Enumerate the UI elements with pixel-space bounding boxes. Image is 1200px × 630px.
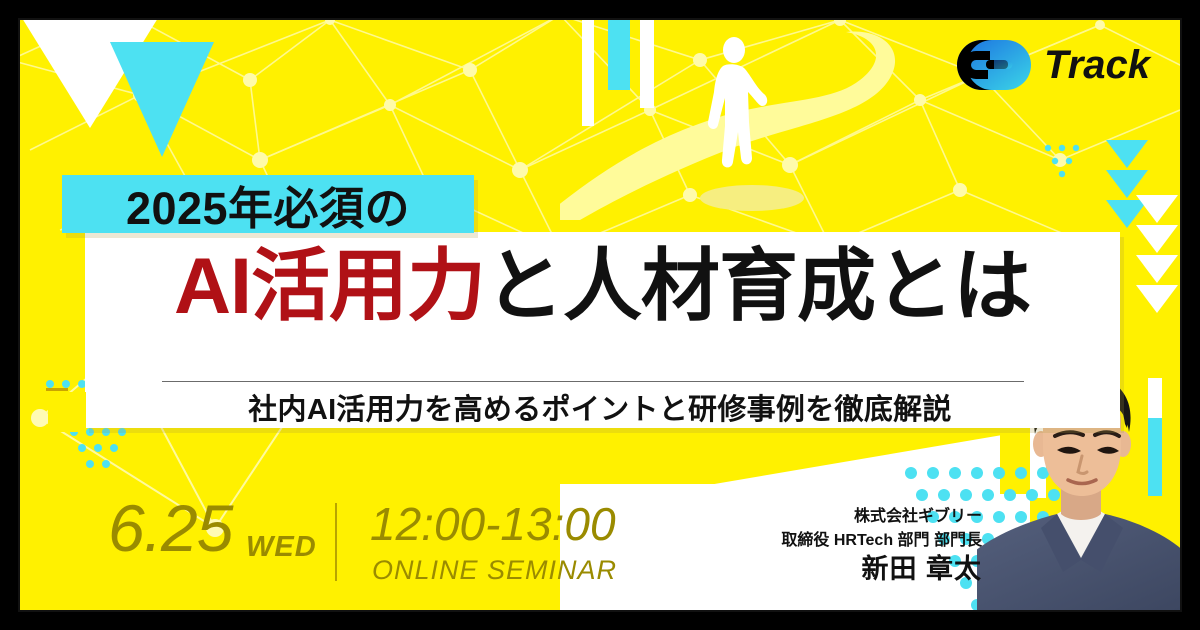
- schedule-format: ONLINE SEMINAR: [372, 555, 617, 586]
- frame-top: [0, 0, 1200, 18]
- speaker-name: 新田 章太: [700, 553, 982, 587]
- eyebrow-text: 2025年必須の: [62, 175, 474, 233]
- schedule-time: 12:00-13:00: [370, 501, 616, 547]
- speaker-info: 株式会社ギブリー 取締役 HRTech 部門 部門長 新田 章太: [700, 505, 982, 587]
- brand-logo-text: Track: [1044, 43, 1150, 88]
- triangle-down-cyan: [1106, 170, 1148, 198]
- schedule-block: 6.25 WED 12:00-13:00 ONLINE SEMINAR: [108, 495, 668, 590]
- frame-left: [0, 0, 18, 630]
- triangle-down-cyan-topleft: [110, 42, 214, 157]
- frame-bottom: [0, 612, 1200, 630]
- schedule-date: 6.25: [108, 495, 232, 561]
- speaker-company: 株式会社ギブリー: [700, 505, 982, 529]
- subtitle-divider: [162, 381, 1024, 382]
- deco-bar-white-1: [582, 18, 594, 126]
- halftone-dots-right-small: [1042, 142, 1082, 182]
- frame-right: [1182, 0, 1200, 630]
- triangle-down-white: [1136, 225, 1178, 253]
- page-subtitle: 社内AI活用力を高めるポイントと研修事例を徹底解説: [120, 386, 1080, 428]
- triangle-column-white: [1136, 195, 1178, 315]
- subtitle-notch-yellow: [48, 392, 86, 432]
- deco-bar-cyan-1: [608, 18, 630, 90]
- brand-logo[interactable]: Track: [956, 38, 1150, 92]
- seminar-banner: 2025年必須の AI活用力と人材育成とは 社内AI活用力を高めるポイントと研修…: [0, 0, 1200, 630]
- schedule-day-of-week: WED: [246, 531, 317, 564]
- triangle-down-white: [1136, 195, 1178, 223]
- page-title: AI活用力と人材育成とは: [85, 246, 1120, 325]
- runner-silhouette-icon: [694, 36, 774, 186]
- schedule-divider: [335, 503, 337, 581]
- title-highlight: AI活用力: [174, 241, 485, 330]
- speaker-role: 取締役 HRTech 部門 部門長: [700, 529, 982, 553]
- deco-bar-white-2: [640, 18, 654, 108]
- triangle-down-cyan: [1106, 140, 1148, 168]
- subtitle-notch-dash: [46, 388, 68, 391]
- triangle-down-white: [1136, 255, 1178, 283]
- title-rest: と人材育成とは: [485, 241, 1031, 330]
- triangle-down-white: [1136, 285, 1178, 313]
- track-chain-logo-icon: [956, 38, 1032, 92]
